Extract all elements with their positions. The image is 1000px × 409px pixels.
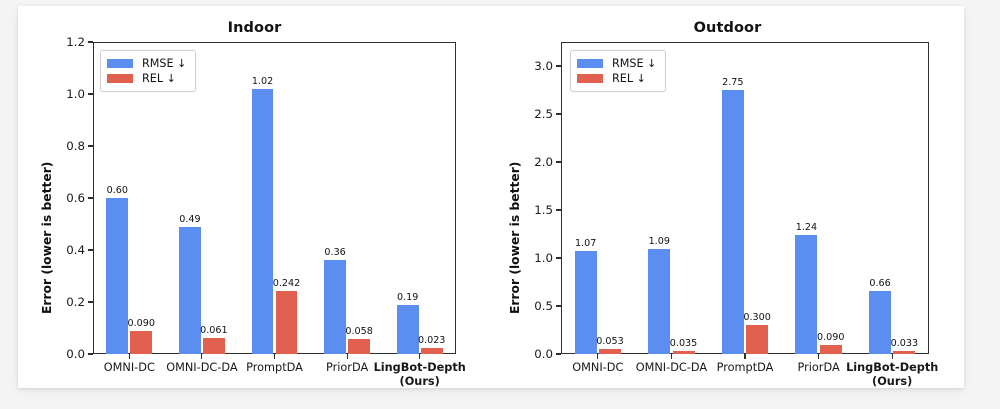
y-tick-label: 1.0 (18, 87, 85, 101)
bar-value-label: 2.75 (722, 77, 743, 88)
bar-value-label: 0.033 (891, 338, 918, 349)
bar-rel-omni-dc (130, 331, 152, 354)
x-tick-mark (892, 354, 893, 359)
x-axis-label-priorda: PriorDA (798, 361, 840, 375)
y-tick-mark (88, 41, 93, 42)
bar-value-label: 0.49 (179, 214, 200, 225)
bar-rmse-omni-dc-da (179, 227, 201, 354)
bar-value-label: 0.300 (743, 312, 770, 323)
bar-value-label: 0.090 (817, 332, 844, 343)
bar-value-label: 0.061 (200, 325, 227, 336)
legend-label-rmse: RMSE ↓ (142, 57, 187, 70)
bar-rel-omni-dc-da (673, 351, 695, 354)
bar-value-label: 0.60 (107, 185, 128, 196)
x-tick-mark (419, 354, 420, 359)
bar-value-label: 0.058 (345, 326, 372, 337)
bar-value-label: 0.090 (128, 318, 155, 329)
bar-rel-promptda (746, 325, 768, 354)
x-axis-label-priorda: PriorDA (326, 361, 368, 375)
y-tick-mark (88, 197, 93, 198)
legend-label-rmse: RMSE ↓ (612, 57, 657, 70)
legend-indoor: RMSE ↓ REL ↓ (100, 50, 196, 92)
bar-rel-omni-dc (599, 349, 621, 354)
x-axis-label-omni-dc: OMNI-DC (104, 361, 155, 375)
bar-rmse-promptda (722, 90, 744, 354)
bar-rel-priorda (348, 339, 370, 354)
legend-item-rmse: RMSE ↓ (107, 56, 187, 71)
y-tick-label: 1.5 (491, 203, 553, 217)
legend-swatch-rel-icon (577, 74, 603, 83)
bar-value-label: 1.09 (649, 236, 670, 247)
bar-value-label: 0.023 (418, 335, 445, 346)
legend-item-rmse: RMSE ↓ (577, 56, 657, 71)
bar-rmse-lingbot-depth (869, 291, 891, 354)
bar-value-label: 1.07 (575, 238, 596, 249)
x-axis-label-omni-dc-da: OMNI-DC-DA (166, 361, 237, 375)
y-axis-label-indoor: Error (lower is better) (40, 162, 54, 314)
x-axis-label-promptda: PromptDA (246, 361, 303, 375)
y-tick-label: 0.5 (491, 299, 553, 313)
bar-value-label: 0.19 (397, 292, 418, 303)
y-tick-mark (88, 93, 93, 94)
legend-item-rel: REL ↓ (107, 71, 187, 86)
legend-outdoor: RMSE ↓ REL ↓ (570, 50, 666, 92)
bar-rel-priorda (820, 345, 842, 354)
y-tick-mark (88, 353, 93, 354)
chart-panel-indoor: Indoor Error (lower is better) RMSE ↓ RE… (18, 6, 491, 388)
figure-card: Indoor Error (lower is better) RMSE ↓ RE… (18, 6, 964, 388)
x-tick-mark (347, 354, 348, 359)
bar-value-label: 0.66 (869, 278, 890, 289)
y-tick-mark (556, 65, 561, 66)
x-tick-mark (201, 354, 202, 359)
x-axis-label-omni-dc: OMNI-DC (572, 361, 623, 375)
y-tick-label: 0.6 (18, 191, 85, 205)
bar-value-label: 0.053 (596, 336, 623, 347)
x-axis-label-lingbot-depth: LingBot-Depth(Ours) (846, 361, 938, 388)
y-tick-label: 1.2 (18, 35, 85, 49)
y-tick-mark (556, 353, 561, 354)
y-tick-label: 2.5 (491, 107, 553, 121)
bar-rmse-omni-dc (106, 198, 128, 354)
y-tick-mark (556, 305, 561, 306)
legend-swatch-rmse-icon (107, 59, 133, 68)
bar-rel-lingbot-depth (421, 348, 443, 354)
x-tick-mark (818, 354, 819, 359)
bar-rmse-priorda (795, 235, 817, 354)
y-tick-mark (556, 161, 561, 162)
bar-rel-promptda (276, 291, 298, 354)
y-tick-label: 0.4 (18, 243, 85, 257)
x-axis-label-lingbot-depth: LingBot-Depth(Ours) (374, 361, 466, 388)
y-tick-mark (88, 249, 93, 250)
y-tick-label: 1.0 (491, 251, 553, 265)
y-tick-label: 0.2 (18, 295, 85, 309)
y-tick-label: 3.0 (491, 59, 553, 73)
y-tick-label: 0.0 (18, 347, 85, 361)
y-tick-label: 0.8 (18, 139, 85, 153)
y-axis-label-outdoor: Error (lower is better) (508, 162, 522, 314)
bar-value-label: 0.36 (324, 247, 345, 258)
bar-rmse-omni-dc-da (648, 249, 670, 354)
x-tick-mark (744, 354, 745, 359)
y-tick-mark (556, 209, 561, 210)
y-tick-mark (556, 113, 561, 114)
legend-swatch-rel-icon (107, 74, 133, 83)
chart-title-indoor: Indoor (18, 20, 491, 36)
bar-value-label: 0.035 (670, 338, 697, 349)
bar-value-label: 1.02 (252, 76, 273, 87)
legend-item-rel: REL ↓ (577, 71, 657, 86)
bar-rel-omni-dc-da (203, 338, 225, 354)
y-tick-mark (556, 257, 561, 258)
bar-rel-lingbot-depth (893, 351, 915, 354)
bar-rmse-priorda (324, 260, 346, 354)
legend-swatch-rmse-icon (577, 59, 603, 68)
y-tick-mark (88, 145, 93, 146)
chart-title-outdoor: Outdoor (491, 20, 964, 36)
x-tick-mark (597, 354, 598, 359)
x-tick-mark (671, 354, 672, 359)
x-tick-mark (274, 354, 275, 359)
x-axis-label-omni-dc-da: OMNI-DC-DA (636, 361, 707, 375)
bar-value-label: 1.24 (796, 222, 817, 233)
y-tick-label: 0.0 (491, 347, 553, 361)
legend-label-rel: REL ↓ (142, 72, 176, 85)
bar-rmse-omni-dc (575, 251, 597, 354)
bar-value-label: 0.242 (273, 278, 300, 289)
bar-rmse-promptda (252, 89, 274, 354)
bar-rmse-lingbot-depth (397, 305, 419, 354)
legend-label-rel: REL ↓ (612, 72, 646, 85)
y-tick-label: 2.0 (491, 155, 553, 169)
y-tick-mark (88, 301, 93, 302)
x-tick-mark (129, 354, 130, 359)
x-axis-label-promptda: PromptDA (717, 361, 774, 375)
chart-panel-outdoor: Outdoor Error (lower is better) RMSE ↓ R… (491, 6, 964, 388)
